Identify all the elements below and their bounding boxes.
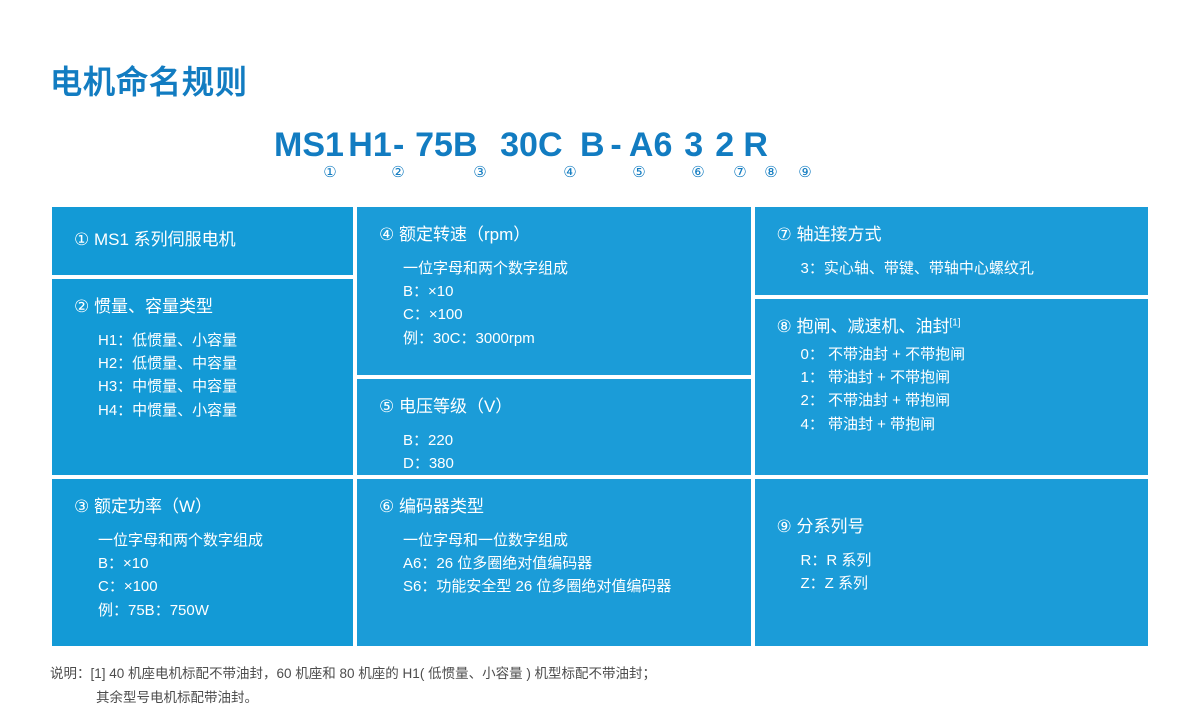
legend-column-2: ④ 额定转速（rpm） 一位字母和两个数字组成 B：×10 C：×100 例：3… [355,205,753,648]
legend-cell-2-heading: ② 惯量、容量类型 [74,295,331,319]
legend-column-3: ⑦ 轴连接方式 3：实心轴、带键、带轴中心螺纹孔 ⑧ 抱闸、减速机、油封[1] … [753,205,1151,648]
code-separator-1: - [392,128,405,162]
legend-cell-4-line-4: 例：30C：3000rpm [403,327,729,350]
legend-cell-9-line-2: Z：Z 系列 [801,572,1127,595]
page-title: 电机命名规则 [50,57,248,103]
code-marker-5: ⑤ [632,165,645,180]
legend-cell-4: ④ 额定转速（rpm） 一位字母和两个数字组成 B：×10 C：×100 例：3… [355,205,753,377]
legend-cell-9: ⑨ 分系列号 R：R 系列 Z：Z 系列 [753,477,1151,648]
legend-cell-3-heading: ③ 额定功率（W） [74,495,331,519]
code-segment-1: MS1 [270,128,348,162]
code-separator-2: - [609,128,622,162]
code-marker-row: ① ② ③ ④ ⑤ ⑥ ⑦ ⑧ ⑨ [270,165,890,187]
legend-cell-6-line-1: 一位字母和一位数字组成 [403,529,729,552]
code-segment-4: 30C [487,128,575,162]
legend-cell-8-footnote-ref: [1] [949,317,960,328]
legend-cell-4-line-2: B：×10 [403,280,729,303]
code-marker-4: ④ [563,165,576,180]
legend-cell-3-line-1: 一位字母和两个数字组成 [98,529,331,552]
code-marker-8: ⑧ [764,165,777,180]
legend-cell-6: ⑥ 编码器类型 一位字母和一位数字组成 A6：26 位多圈绝对值编码器 S6：功… [355,477,753,648]
legend-cell-2-line-4: H4：中惯量、小容量 [98,399,331,422]
legend-grid: ① MS1 系列伺服电机 ② 惯量、容量类型 H1：低惯量、小容量 H2：低惯量… [50,205,1150,648]
legend-cell-4-heading: ④ 额定转速（rpm） [379,223,729,247]
footnote-line-1: 说明：[1] 40 机座电机标配不带油封，60 机座和 80 机座的 H1( 低… [50,662,1150,686]
code-segment-8: 2 [709,128,741,162]
legend-column-1: ① MS1 系列伺服电机 ② 惯量、容量类型 H1：低惯量、小容量 H2：低惯量… [50,205,355,648]
code-marker-6: ⑥ [691,165,704,180]
code-marker-3: ③ [473,165,486,180]
code-segment-5: B [575,128,609,162]
code-segment-6: A6 [623,128,679,162]
motor-naming-rule-diagram: 电机命名规则 MS1 H1 - 75B 30C B - A6 3 2 R ① ②… [0,0,1200,724]
legend-cell-8-line-1: 0： 不带油封 + 不带抱闸 [801,343,1127,366]
legend-cell-5-line-1: B：220 [403,429,729,452]
legend-cell-3: ③ 额定功率（W） 一位字母和两个数字组成 B：×10 C：×100 例：75B… [50,477,355,648]
legend-cell-2-line-2: H2：低惯量、中容量 [98,352,331,375]
code-segment-9: R [741,128,771,162]
legend-cell-7: ⑦ 轴连接方式 3：实心轴、带键、带轴中心螺纹孔 [753,205,1151,297]
footnote-line-2: 其余型号电机标配带油封。 [96,686,1150,710]
code-segment-3: 75B [405,128,487,162]
model-code-row: MS1 H1 - 75B 30C B - A6 3 2 R [270,116,890,162]
legend-cell-6-line-2: A6：26 位多圈绝对值编码器 [403,552,729,575]
legend-cell-2-line-3: H3：中惯量、中容量 [98,375,331,398]
code-marker-1: ① [323,165,336,180]
legend-cell-7-heading: ⑦ 轴连接方式 [777,223,1127,247]
legend-cell-3-line-3: C：×100 [98,575,331,598]
legend-cell-2: ② 惯量、容量类型 H1：低惯量、小容量 H2：低惯量、中容量 H3：中惯量、中… [50,277,355,477]
legend-cell-1: ① MS1 系列伺服电机 [50,205,355,277]
code-marker-2: ② [391,165,404,180]
legend-cell-8: ⑧ 抱闸、减速机、油封[1] 0： 不带油封 + 不带抱闸 1： 带油封 + 不… [753,297,1151,477]
legend-cell-7-line-1: 3：实心轴、带键、带轴中心螺纹孔 [801,257,1127,280]
legend-cell-2-line-1: H1：低惯量、小容量 [98,329,331,352]
legend-cell-1-heading: ① MS1 系列伺服电机 [74,228,236,252]
legend-cell-8-line-2: 1： 带油封 + 不带抱闸 [801,366,1127,389]
legend-cell-8-heading: ⑧ 抱闸、减速机、油封[1] [777,315,1127,339]
footnote: 说明：[1] 40 机座电机标配不带油封，60 机座和 80 机座的 H1( 低… [50,662,1150,709]
legend-cell-8-line-4: 4： 带油封 + 带抱闸 [801,413,1127,436]
legend-cell-9-line-1: R：R 系列 [801,549,1127,572]
legend-cell-5: ⑤ 电压等级（V） B：220 D：380 [355,377,753,477]
legend-cell-4-line-3: C：×100 [403,303,729,326]
legend-cell-9-heading: ⑨ 分系列号 [777,515,1127,539]
legend-cell-6-line-3: S6：功能安全型 26 位多圈绝对值编码器 [403,575,729,598]
legend-cell-3-line-2: B：×10 [98,552,331,575]
legend-cell-8-line-3: 2： 不带油封 + 带抱闸 [801,389,1127,412]
code-segment-2: H1 [348,128,392,162]
legend-cell-5-line-2: D：380 [403,452,729,475]
legend-cell-4-line-1: 一位字母和两个数字组成 [403,257,729,280]
code-segment-7: 3 [679,128,709,162]
legend-cell-6-heading: ⑥ 编码器类型 [379,495,729,519]
code-marker-9: ⑨ [798,165,811,180]
legend-cell-3-line-4: 例：75B：750W [98,599,331,622]
code-marker-7: ⑦ [733,165,746,180]
legend-cell-8-heading-text: ⑧ 抱闸、减速机、油封 [777,317,950,336]
legend-cell-5-heading: ⑤ 电压等级（V） [379,395,729,419]
